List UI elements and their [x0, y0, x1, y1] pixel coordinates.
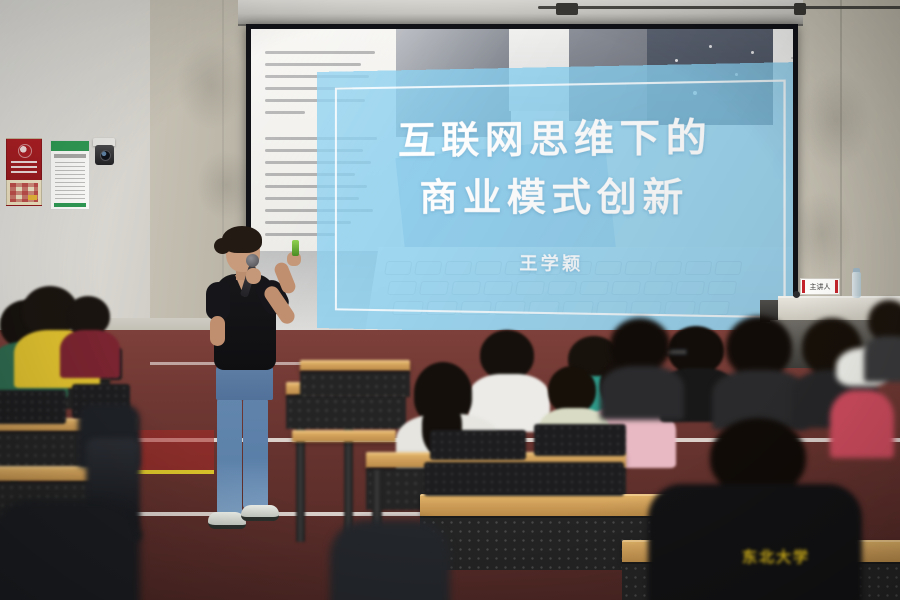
cable-clip: [794, 3, 806, 15]
student-hair: [726, 316, 792, 378]
list-item: [330, 520, 450, 600]
seat-back: [0, 390, 66, 424]
table-microphone: [793, 291, 800, 298]
poster-footer-bar: [54, 203, 86, 207]
wall-seam: [840, 0, 842, 345]
presenter-arm-left: [210, 316, 225, 346]
cable-clip: [556, 3, 578, 15]
projection-screen: 互联网思维下的 商业模式创新 王学颖: [246, 24, 798, 342]
camera-lens-icon: [100, 150, 111, 161]
list-item: [0, 500, 140, 600]
student-black-shirt-logo: [648, 484, 862, 600]
red-safety-poster: [6, 138, 42, 206]
speaker-name-card: 主讲人: [800, 278, 840, 295]
poster-emblem-icon: [18, 144, 32, 158]
seat-back: [430, 430, 526, 460]
list-item: [864, 300, 900, 380]
poster-highlight: [28, 195, 37, 200]
poster-header-bar: [51, 141, 89, 151]
student-hair: [548, 366, 596, 414]
presenter-hand-left: [246, 268, 261, 284]
ceiling-cable: [538, 6, 900, 9]
shirt-back-text: 东北大学: [742, 546, 810, 567]
student-edge-right: [864, 336, 900, 382]
slide-title-line-1: 互联网思维下的: [317, 107, 793, 169]
name-card-text: 主讲人: [807, 281, 833, 292]
name-card-stripe: [802, 280, 805, 293]
poster-heading: [11, 161, 37, 173]
name-card-stripe: [835, 280, 838, 293]
presenter-sleeve-left: [206, 282, 230, 320]
list-item: [598, 318, 684, 414]
projection-screen-image: 互联网思维下的 商业模式创新 王学颖: [251, 29, 793, 337]
desk-panel: [300, 371, 410, 397]
list-item: [58, 296, 122, 376]
seat-back: [534, 424, 626, 456]
foreground-shoulder: [0, 500, 140, 600]
presentation-clicker: [292, 240, 299, 256]
presenter-leg-left: [217, 394, 242, 516]
desk-row: [292, 430, 396, 442]
student-maroon-shirt: [60, 330, 120, 378]
seat-back: [424, 462, 624, 496]
student-back-row: [600, 366, 684, 420]
presenter-shoe-right: [241, 505, 279, 521]
microphone-head-icon: [246, 254, 259, 267]
desk-panel: [286, 395, 406, 429]
presenter-hair-bun: [214, 238, 231, 254]
slide-content-panel: 互联网思维下的 商业模式创新 王学颖: [317, 62, 793, 337]
slide-title-line-2: 商业模式创新: [317, 167, 793, 227]
water-bottle: [852, 272, 861, 298]
student-hair: [610, 318, 670, 372]
lecture-hall-photo: 互联网思维下的 商业模式创新 王学颖: [0, 0, 900, 600]
poster-body-text: [55, 162, 85, 201]
foreground-shoulder: [330, 520, 450, 600]
list-item: [648, 418, 862, 600]
desk-row: [300, 360, 410, 371]
slide-text-block: 互联网思维下的 商业模式创新 王学颖: [317, 107, 793, 277]
green-notice-poster: [50, 140, 90, 210]
presenter-leg-right: [243, 394, 268, 510]
poster-subheading: [54, 154, 86, 158]
projector-screen-housing: [238, 0, 803, 26]
